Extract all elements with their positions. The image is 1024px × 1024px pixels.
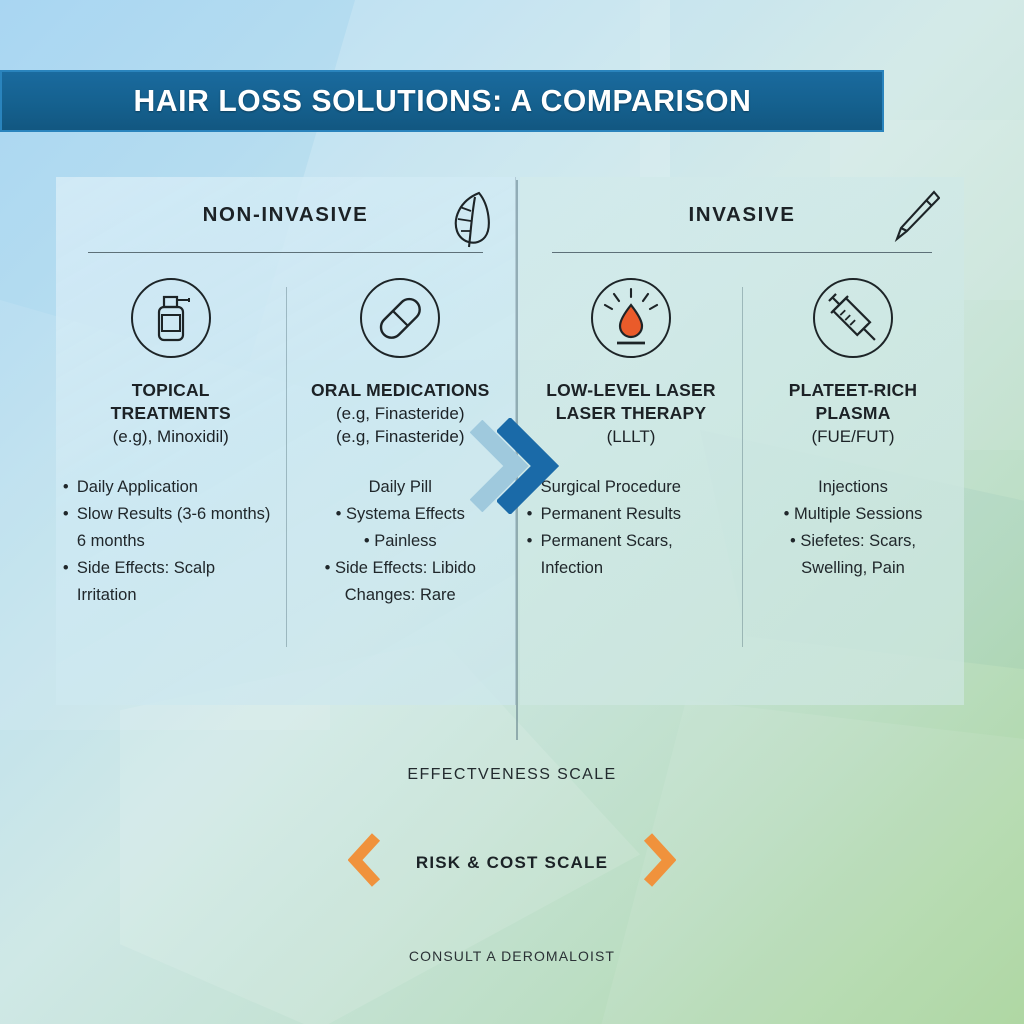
infographic-canvas: HAIR LOSS SOLUTIONS: A COMPARISON NON-IN… [0, 0, 1024, 1024]
column-title-line1: TOPICAL [132, 380, 210, 400]
title-banner: HAIR LOSS SOLUTIONS: A COMPARISON [0, 70, 884, 132]
pill-capsule-icon [359, 277, 441, 359]
list-item: Changes: Rare [292, 582, 508, 609]
column-subtitle: (e.g), Minoxidil) [113, 425, 229, 448]
column-title-line1: ORAL MEDICATIONS [311, 380, 490, 400]
spray-bottle-icon [130, 277, 212, 359]
panel-invasive: INVASIVE LOW-LE [520, 177, 964, 705]
list-item: 6 months [63, 528, 279, 555]
list-item: Side Effects: Scalp [63, 555, 279, 582]
column-platelet-rich-plasma: PLATEET-RICH PLASMA (FUE/FUT) Injections… [742, 277, 964, 599]
list-item: Permanent Scars, [527, 528, 736, 555]
leaf-icon [445, 189, 491, 256]
feature-list: Injections • Multiple Sessions • Siefete… [749, 474, 958, 582]
list-item: Irritation [63, 582, 279, 609]
column-title: TOPICAL TREATMENTS [111, 379, 231, 425]
syringe-icon [812, 277, 894, 359]
risk-cost-scale-label: RISK & COST SCALE [416, 853, 608, 873]
risk-cost-scale-row: RISK & COST SCALE [0, 832, 1024, 893]
panel-header-rule [552, 252, 932, 254]
chevron-left-icon [348, 832, 382, 893]
progression-chevron-icon [497, 418, 559, 519]
list-item: • Side Effects: Libido [292, 555, 508, 582]
panel-header-rule [88, 252, 483, 254]
list-item-label: Side Effects: Libido [335, 559, 476, 577]
laser-flame-icon [590, 277, 672, 359]
column-title-line2: PLASMA [815, 403, 890, 423]
column-topical-treatments: TOPICAL TREATMENTS (e.g), Minoxidil) Dai… [56, 277, 286, 626]
column-title: ORAL MEDICATIONS [311, 379, 490, 402]
effectiveness-scale-label: EFFECTVENESS SCALE [0, 766, 1024, 784]
list-item-label: Siefetes: Scars, [800, 532, 916, 550]
column-title: PLATEET-RICH PLASMA [789, 379, 917, 425]
panel-non-invasive: NON-INVASIVE [56, 177, 516, 705]
feature-list: Daily Application Slow Results (3-6 mont… [63, 474, 279, 609]
list-item: Daily Application [63, 474, 279, 501]
page-title: HAIR LOSS SOLUTIONS: A COMPARISON [133, 83, 751, 119]
column-subtitle: (e.g, Finasteride) [336, 402, 465, 425]
chevron-right-icon [642, 832, 676, 893]
column-title: LOW-LEVEL LASER LASER THERAPY [546, 379, 716, 425]
list-item: • Multiple Sessions [749, 501, 958, 528]
list-item: • Siefetes: Scars, [749, 528, 958, 555]
column-title-line2: TREATMENTS [111, 403, 231, 423]
panel-header-invasive: INVASIVE [520, 195, 964, 257]
panel-header-non-invasive: NON-INVASIVE [56, 195, 515, 257]
column-subtitle-duplicate: (e.g, Finasteride) [336, 425, 465, 448]
list-item-label: Painless [374, 532, 436, 550]
column-subtitle: (LLLT) [607, 425, 656, 448]
column-title-line1: PLATEET-RICH [789, 380, 917, 400]
list-item-label: Multiple Sessions [794, 505, 922, 523]
scalpel-icon [888, 189, 940, 256]
column-title-line1: LOW-LEVEL LASER [546, 380, 716, 400]
column-subtitle: (FUE/FUT) [811, 425, 894, 448]
list-item: • Painless [292, 528, 508, 555]
list-item: Injections [749, 474, 958, 501]
list-item-label: Systema Effects [346, 505, 465, 523]
list-item: Slow Results (3-6 months) [63, 501, 279, 528]
footer-note: CONSULT A DEROMALOIST [0, 948, 1024, 964]
list-item: Swelling, Pain [749, 555, 958, 582]
column-title-line2: LASER THERAPY [556, 403, 706, 423]
list-item: Infection [527, 555, 736, 582]
